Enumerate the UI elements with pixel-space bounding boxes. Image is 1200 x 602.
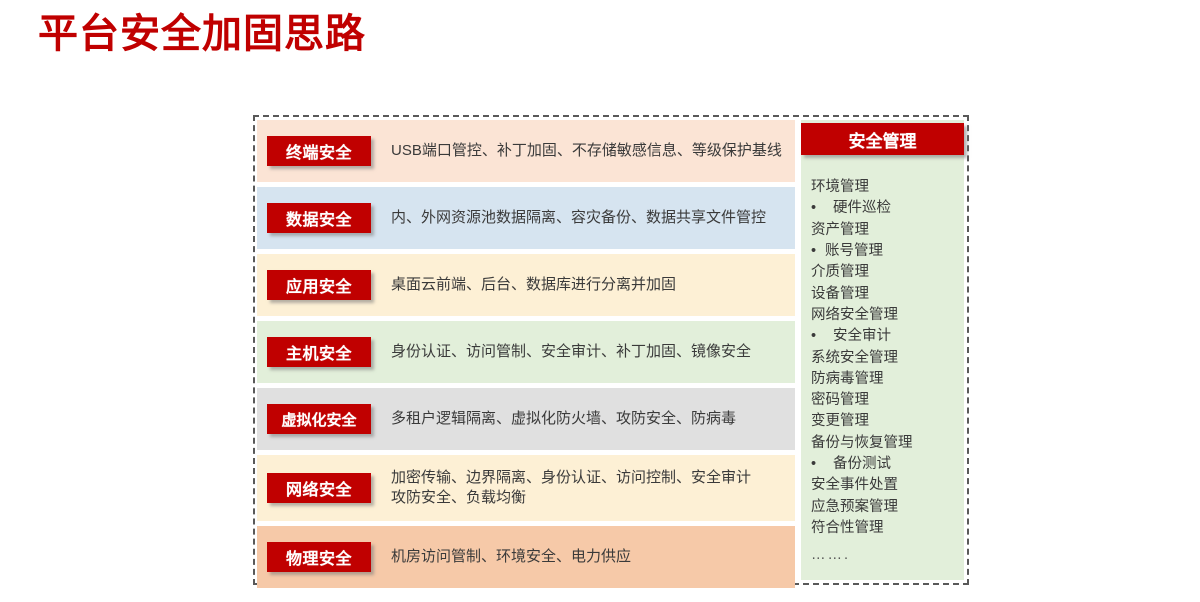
- layer-label-2[interactable]: 数据安全: [267, 203, 371, 233]
- management-item: 网络安全管理: [811, 305, 960, 326]
- layer-description-7: 机房访问管制、环境安全、电力供应: [391, 547, 631, 567]
- security-layer-stack: 终端安全USB端口管控、补丁加固、不存储敏感信息、等级保护基线数据安全内、外网资…: [255, 117, 795, 583]
- layer-row: 虚拟化安全多租户逻辑隔离、虚拟化防火墙、攻防安全、防病毒: [257, 388, 795, 450]
- layer-label-1[interactable]: 终端安全: [267, 136, 371, 166]
- management-item: 介质管理: [811, 262, 960, 283]
- layer-row: 数据安全内、外网资源池数据隔离、容灾备份、数据共享文件管控: [257, 187, 795, 249]
- layer-label-5[interactable]: 虚拟化安全: [267, 404, 371, 434]
- management-item-label: 备份测试: [833, 456, 891, 472]
- security-management-header: 安全管理: [801, 123, 964, 155]
- layer-row: 应用安全桌面云前端、后台、数据库进行分离并加固: [257, 254, 795, 316]
- management-item: 备份与恢复管理: [811, 433, 960, 454]
- layer-label-7[interactable]: 物理安全: [267, 542, 371, 572]
- management-item: 资产管理: [811, 220, 960, 241]
- management-item: 符合性管理: [811, 518, 960, 539]
- layer-description-4: 身份认证、访问管制、安全审计、补丁加固、镜像安全: [391, 342, 751, 362]
- layer-description-2: 内、外网资源池数据隔离、容灾备份、数据共享文件管控: [391, 208, 766, 228]
- management-sub-item: •备份测试: [811, 454, 960, 475]
- management-sub-item: •安全审计: [811, 326, 960, 347]
- management-item: 环境管理: [811, 177, 960, 198]
- layer-description-6: 加密传输、边界隔离、身份认证、访问控制、安全审计 攻防安全、负载均衡: [391, 468, 751, 509]
- layer-label-3[interactable]: 应用安全: [267, 270, 371, 300]
- bullet-icon: •: [811, 454, 833, 475]
- management-item-label: 账号管理: [825, 243, 883, 259]
- management-item: 应急预案管理: [811, 497, 960, 518]
- layer-description-5: 多租户逻辑隔离、虚拟化防火墙、攻防安全、防病毒: [391, 409, 736, 429]
- layer-description-3: 桌面云前端、后台、数据库进行分离并加固: [391, 275, 676, 295]
- bullet-icon: •: [811, 198, 833, 219]
- page-title: 平台安全加固思路: [38, 8, 366, 60]
- management-item: 安全事件处置: [811, 475, 960, 496]
- layer-label-4[interactable]: 主机安全: [267, 337, 371, 367]
- management-sub-item: •硬件巡检: [811, 198, 960, 219]
- management-item: 防病毒管理: [811, 369, 960, 390]
- bullet-icon: •: [811, 241, 825, 262]
- management-item: 系统安全管理: [811, 348, 960, 369]
- management-sub-item: •账号管理: [811, 241, 960, 262]
- security-architecture-diagram: 终端安全USB端口管控、补丁加固、不存储敏感信息、等级保护基线数据安全内、外网资…: [253, 115, 969, 585]
- layer-row: 主机安全身份认证、访问管制、安全审计、补丁加固、镜像安全: [257, 321, 795, 383]
- security-management-list: 环境管理•硬件巡检资产管理•账号管理介质管理设备管理网络安全管理•安全审计系统安…: [811, 177, 960, 567]
- management-item-label: 硬件巡检: [833, 200, 891, 216]
- management-list-ellipsis: …….: [811, 539, 960, 566]
- layer-row: 网络安全加密传输、边界隔离、身份认证、访问控制、安全审计 攻防安全、负载均衡: [257, 455, 795, 521]
- management-item: 变更管理: [811, 411, 960, 432]
- layer-row: 终端安全USB端口管控、补丁加固、不存储敏感信息、等级保护基线: [257, 120, 795, 182]
- layer-row: 物理安全机房访问管制、环境安全、电力供应: [257, 526, 795, 588]
- layer-label-6[interactable]: 网络安全: [267, 473, 371, 503]
- bullet-icon: •: [811, 326, 833, 347]
- layer-description-1: USB端口管控、补丁加固、不存储敏感信息、等级保护基线: [391, 141, 782, 161]
- management-item-label: 安全审计: [833, 328, 891, 344]
- management-item: 密码管理: [811, 390, 960, 411]
- security-management-panel: 安全管理 环境管理•硬件巡检资产管理•账号管理介质管理设备管理网络安全管理•安全…: [801, 120, 964, 580]
- management-item: 设备管理: [811, 284, 960, 305]
